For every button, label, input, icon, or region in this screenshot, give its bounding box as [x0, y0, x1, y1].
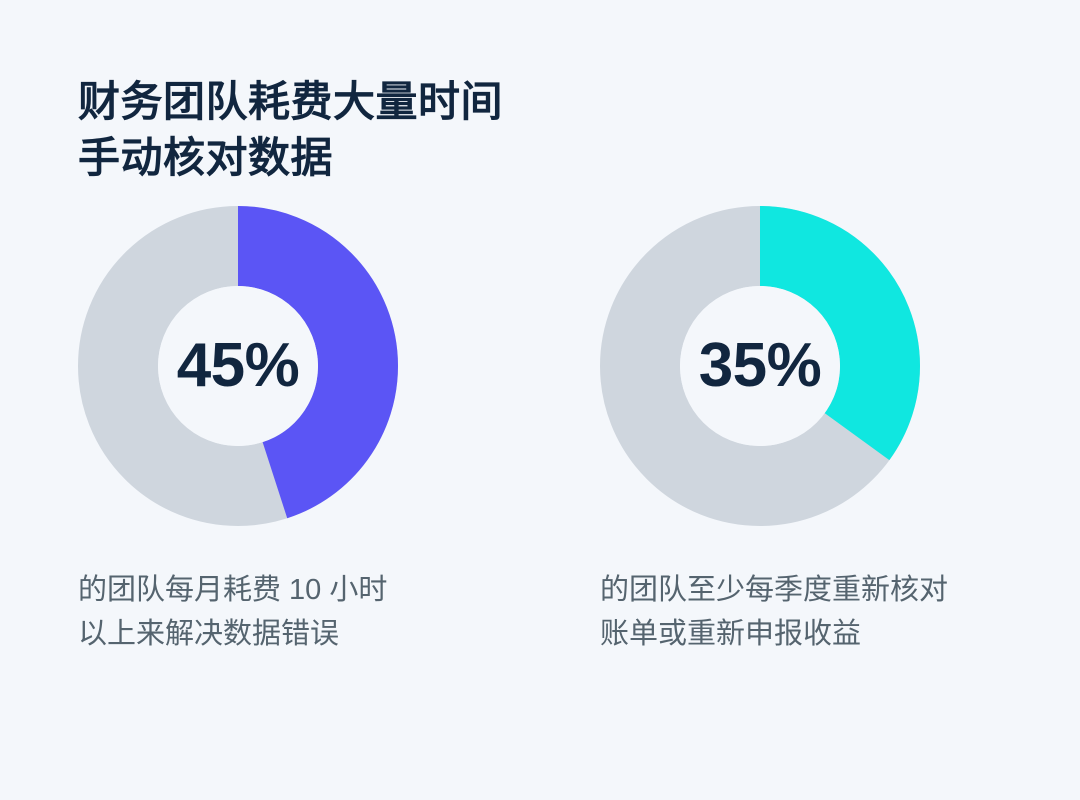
stat-caption-reconcile: 的团队至少每季度重新核对 账单或重新申报收益: [600, 568, 948, 656]
stats-row: 45% 的团队每月耗费 10 小时 以上来解决数据错误 35% 的团队至少每季度…: [0, 206, 1080, 685]
donut-svg-reconcile: [600, 206, 920, 526]
donut-svg-hours: [78, 206, 398, 526]
stat-caption-hours: 的团队每月耗费 10 小时 以上来解决数据错误: [78, 568, 387, 656]
stat-block-reconcile: 35% 的团队至少每季度重新核对 账单或重新申报收益: [600, 206, 1060, 685]
page-title: 财务团队耗费大量时间 手动核对数据: [78, 74, 898, 186]
infographic-canvas: 财务团队耗费大量时间 手动核对数据 45% 的团队每月耗费 10 小时 以上来解…: [0, 0, 1080, 800]
donut-chart-hours: 45%: [78, 206, 398, 526]
donut-hole-hours: [158, 286, 318, 446]
donut-hole-reconcile: [680, 286, 840, 446]
stat-block-hours: 45% 的团队每月耗费 10 小时 以上来解决数据错误: [78, 206, 538, 685]
donut-chart-reconcile: 35%: [600, 206, 920, 526]
